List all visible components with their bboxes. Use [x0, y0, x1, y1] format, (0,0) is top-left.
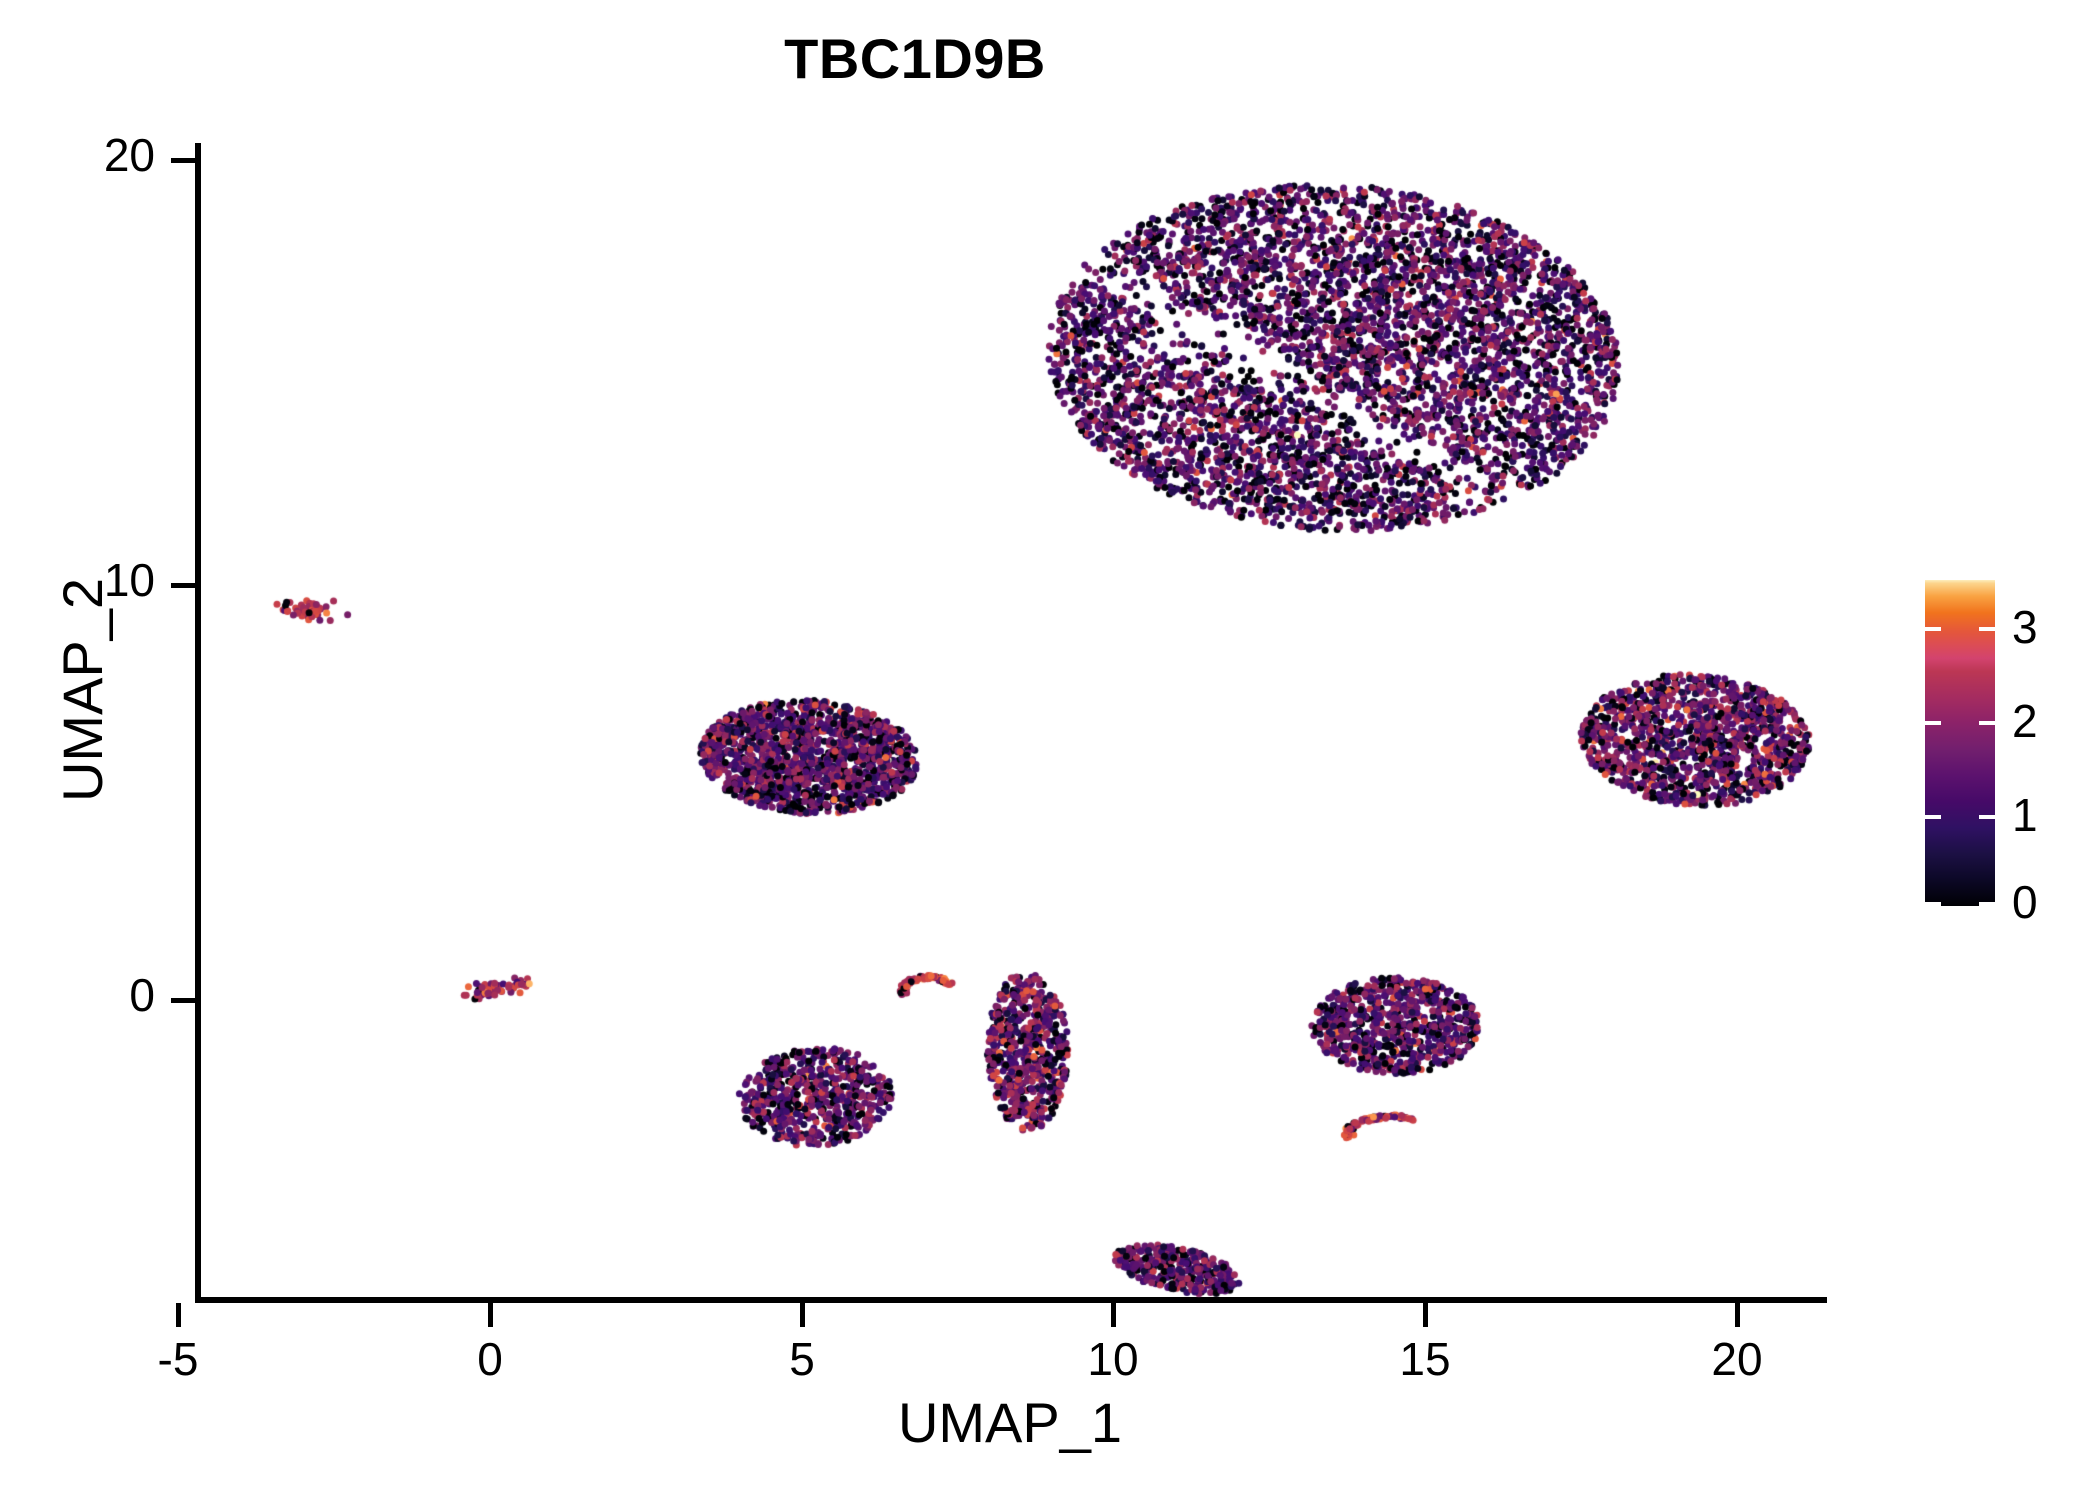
figure-root: TBC1D9B 20 10 0 -5 0 5 10 15 20 UMAP_1 U… [0, 0, 2100, 1500]
y-tick-label-20: 20 [25, 128, 155, 182]
x-tick-mark-20 [1735, 1303, 1740, 1327]
y-tick-mark-10 [171, 583, 195, 588]
x-tick-mark-5 [800, 1303, 805, 1327]
colorbar-gradient [1925, 580, 1995, 906]
page-title: TBC1D9B [0, 26, 1830, 91]
x-tick-label-20: 20 [1667, 1332, 1807, 1386]
colorbar-tick-1-right [1979, 815, 1995, 819]
colorbar-tick-3-right [1979, 627, 1995, 631]
x-tick-label-5: 5 [732, 1332, 872, 1386]
x-tick-label-15: 15 [1355, 1332, 1495, 1386]
colorbar-label-0: 0 [2012, 875, 2100, 929]
colorbar-tick-1-left [1925, 815, 1941, 819]
x-tick-mark-m5 [176, 1303, 181, 1327]
x-tick-label-m5: -5 [108, 1332, 248, 1386]
y-axis-title: UMAP_2 [50, 340, 115, 1040]
colorbar-tick-2-right [1979, 721, 1995, 725]
x-tick-label-0: 0 [420, 1332, 560, 1386]
colorbar-label-2: 2 [2012, 694, 2100, 748]
x-tick-mark-15 [1423, 1303, 1428, 1327]
x-tick-label-10: 10 [1043, 1332, 1183, 1386]
colorbar-tick-0-left [1925, 902, 1941, 906]
y-tick-mark-0 [171, 998, 195, 1003]
colorbar-tick-2-left [1925, 721, 1941, 725]
x-tick-mark-0 [488, 1303, 493, 1327]
y-tick-mark-20 [171, 158, 195, 163]
colorbar-tick-0-right [1979, 902, 1995, 906]
x-tick-mark-10 [1111, 1303, 1116, 1327]
x-axis-title: UMAP_1 [660, 1390, 1360, 1455]
colorbar-tick-3-left [1925, 627, 1941, 631]
colorbar-label-3: 3 [2012, 600, 2100, 654]
colorbar-label-1: 1 [2012, 788, 2100, 842]
scatter-plot-area [195, 143, 1830, 1300]
scatter-canvas [195, 143, 1830, 1300]
